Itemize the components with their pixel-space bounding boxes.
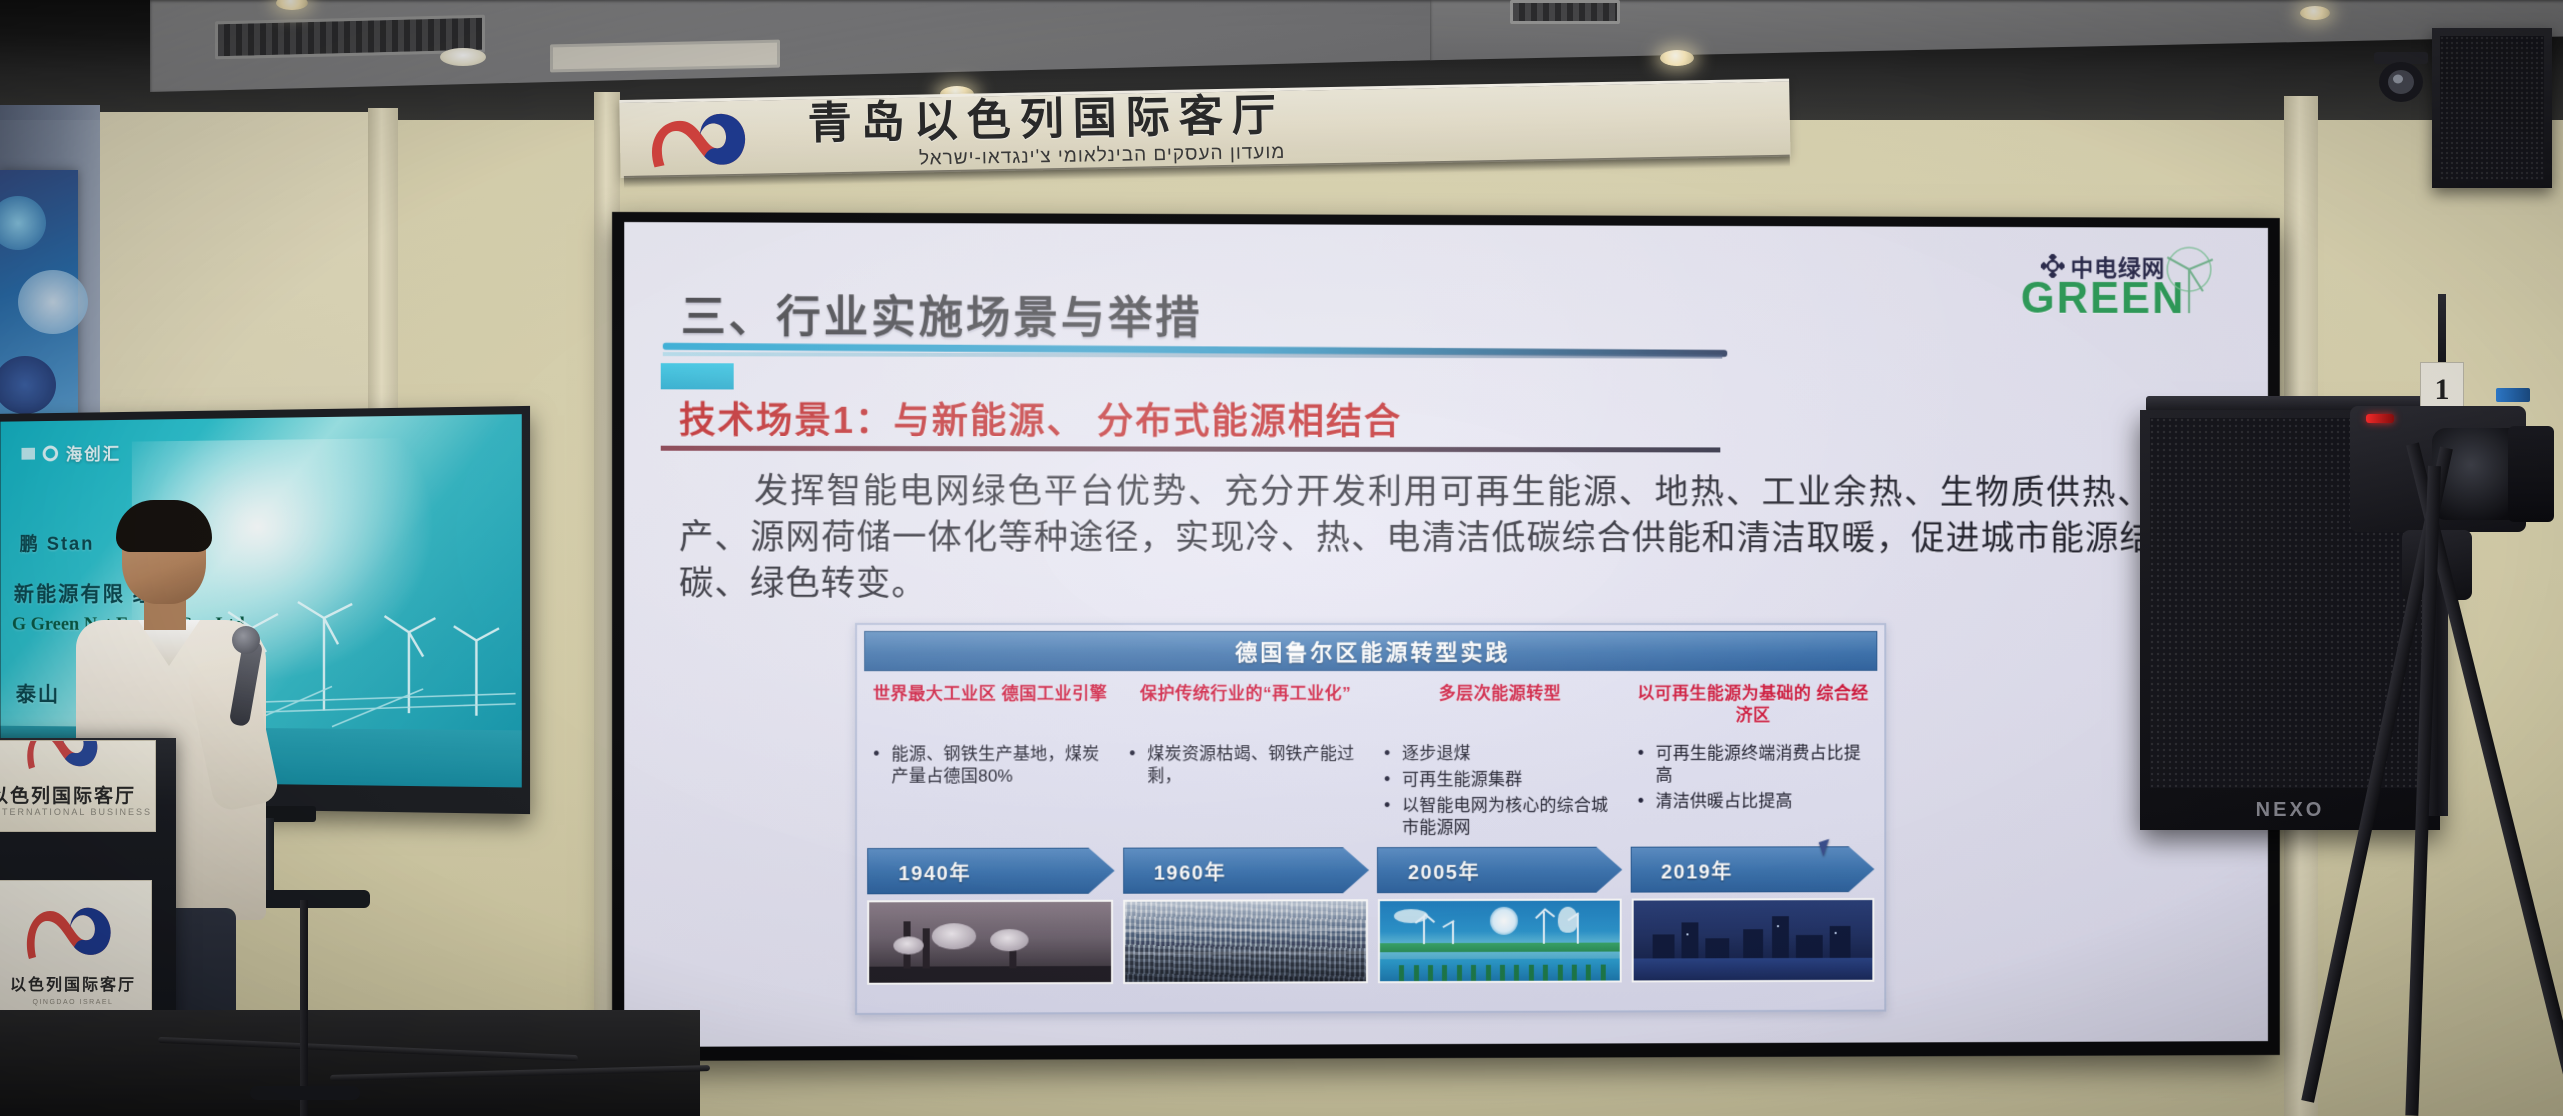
haichuanghui-logo-icon: 海创汇 xyxy=(22,440,122,466)
list-item: 可再生能源终端消费占比提高 xyxy=(1636,743,1875,787)
camera-indicator-panel xyxy=(2496,388,2530,402)
presenter-hair xyxy=(116,500,212,552)
speaker-cabinet-icon xyxy=(2440,36,2544,180)
timeline-year: 1940年 xyxy=(868,856,971,885)
camera-record-led xyxy=(2366,414,2394,423)
microphone-head xyxy=(232,626,260,654)
podium-sign-label-en: INTERNATIONAL BUSINESS CLUB xyxy=(0,807,156,817)
venue-banner-texts: 青岛以色列国际客厅 מועדון העסקים הבינלאומי צ'ינגד… xyxy=(807,93,1285,172)
timeline-year: 1960年 xyxy=(1124,856,1226,885)
ceiling-light xyxy=(1660,50,1694,66)
column-heading: 世界最大工业区 德国工业引擎 xyxy=(867,683,1113,731)
timeline-arrow: 1960年 xyxy=(1123,847,1369,894)
ceiling-detail xyxy=(440,48,486,66)
column-heading: 保护传统行业的“再工业化” xyxy=(1123,683,1368,731)
timeline-year: 2019年 xyxy=(1631,855,1733,884)
subtitle-divider xyxy=(661,446,1721,453)
column-bullets: 逐步退煤 可再生能源集群 以智能电网为核心的综合城市能源网 xyxy=(1378,743,1622,844)
smokestack-factory-photo-icon xyxy=(867,900,1113,985)
infinity-ribbon-logo-icon xyxy=(641,104,790,173)
column-bullets: 可再生能源终端消费占比提高 清洁供暖占比提高 xyxy=(1632,743,1875,817)
broadcast-camera-rig: 1 xyxy=(2310,370,2560,1116)
renewable-energy-illustration-icon xyxy=(1378,899,1622,984)
timeline-arrow: 1940年 xyxy=(867,848,1114,895)
ceiling-light xyxy=(2300,6,2330,20)
camera-shotgun-mic xyxy=(2438,294,2446,370)
timeline-year: 2005年 xyxy=(1378,855,1480,884)
diagram-column: 以可再生能源为基础的 综合经济区 可再生能源终端消费占比提高 清洁供暖占比提高 xyxy=(1632,683,1875,847)
slide-brand-logo: 中电绿网 GREEN xyxy=(1979,243,2226,325)
industrial-cityscape-photo-icon xyxy=(1123,899,1368,984)
ceiling-vent xyxy=(550,40,780,73)
list-item: 能源、钢铁生产基地，煤炭产量占德国80% xyxy=(871,743,1113,788)
timeline-diagram: 德国鲁尔区能源转型实践 世界最大工业区 德国工业引擎 能源、钢铁生产基地，煤炭产… xyxy=(855,623,1886,1015)
diagram-column: 世界最大工业区 德国工业引擎 能源、钢铁生产基地，煤炭产量占德国80% xyxy=(867,683,1113,848)
monitor-brand-label: 海创汇 xyxy=(66,440,121,465)
dome-camera-icon xyxy=(2368,52,2434,108)
camera-lens-hood xyxy=(2508,426,2554,522)
list-item: 逐步退煤 xyxy=(1382,743,1622,765)
slide-body-text: 发挥智能电网绿色平台优势、充分开发利用可再生能源、地热、工业余热、生物质供热、热… xyxy=(679,468,2258,608)
projection-screen-frame: 中电绿网 GREEN 三、行业实施场景与举措 技术场景1：与新能源、 分布式能源… xyxy=(612,212,2280,1061)
wind-turbine-icon xyxy=(2159,245,2218,315)
subtitle-accent-tab xyxy=(661,363,734,389)
timeline-arrows: 1940年 1960年 2005年 2019年 xyxy=(857,846,1884,894)
column-heading: 多层次能源转型 xyxy=(1378,683,1622,731)
column-bullets: 能源、钢铁生产基地，煤炭产量占德国80% xyxy=(867,743,1113,792)
presentation-slide: 中电绿网 GREEN 三、行业实施场景与举措 技术场景1：与新能源、 分布式能源… xyxy=(624,222,2268,1047)
list-item: 可再生能源集群 xyxy=(1382,769,1622,791)
diagram-columns: 世界最大工业区 德国工业引擎 能源、钢铁生产基地，煤炭产量占德国80% 保护传统… xyxy=(857,671,1884,848)
podium-sign-label-cn: 以色列国际客厅 xyxy=(0,781,136,808)
infinity-ribbon-logo-icon xyxy=(21,740,107,773)
slide-title: 三、行业实施场景与举措 xyxy=(681,281,1202,347)
podium-sign: 以色列国际客厅 INTERNATIONAL BUSINESS CLUB xyxy=(0,740,156,832)
night-city-skyline-photo-icon xyxy=(1632,898,1875,982)
conference-room-photo: 青岛以色列国际客厅 מועדון העסקים הבינלאומי צ'ינגד… xyxy=(0,0,2563,1116)
diagram-header: 德国鲁尔区能源转型实践 xyxy=(864,631,1877,671)
list-item: 煤炭资源枯竭、钢铁产能过剩， xyxy=(1127,743,1368,788)
rollup-title-cn: 以色列国际客厅 xyxy=(10,971,136,995)
infinity-ribbon-logo-icon xyxy=(19,899,127,965)
diagram-column: 保护传统行业的“再工业化” 煤炭资源枯竭、钢铁产能过剩， xyxy=(1123,683,1368,848)
slide-subtitle: 技术场景1：与新能源、 分布式能源相结合 xyxy=(679,391,1402,445)
venue-banner-title-cn: 青岛以色列国际客厅 xyxy=(807,93,1285,146)
list-item: 清洁供暖占比提高 xyxy=(1636,791,1875,813)
wall-mounted-speaker xyxy=(2432,28,2552,188)
mic-stand xyxy=(300,900,308,1116)
stage-floor xyxy=(0,1010,700,1116)
ceiling-vent xyxy=(1510,0,1620,24)
column-heading: 以可再生能源为基础的 综合经济区 xyxy=(1632,683,1875,731)
column-bullets: 煤炭资源枯竭、钢铁产能过剩， xyxy=(1123,743,1368,792)
timeline-arrow: 2005年 xyxy=(1377,847,1622,893)
diagram-column: 多层次能源转型 逐步退煤 可再生能源集群 以智能电网为核心的综合城市能源网 xyxy=(1378,683,1622,847)
diagram-header-label: 德国鲁尔区能源转型实践 xyxy=(1235,635,1510,667)
mic-stand-base xyxy=(250,1086,360,1100)
rollup-subtitle-en: QINGDAO ISRAEL xyxy=(33,999,114,1006)
monitor-text-line: 泰山 xyxy=(16,679,60,709)
list-item: 以智能电网为核心的综合城市能源网 xyxy=(1382,795,1622,840)
timeline-photos xyxy=(857,892,1884,995)
timeline-arrow: 2019年 xyxy=(1630,846,1874,892)
venue-logo xyxy=(641,104,790,173)
